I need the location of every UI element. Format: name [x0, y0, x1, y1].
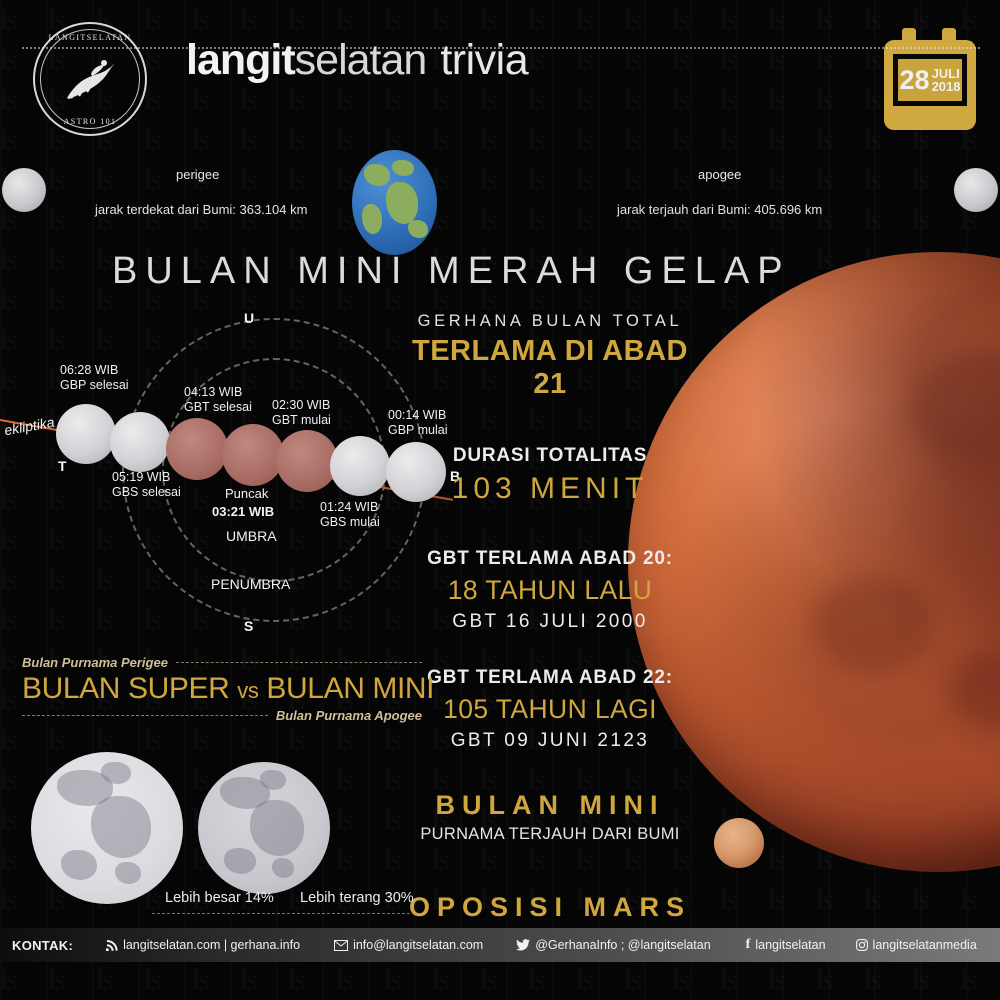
century20-date: GBT 16 JULI 2000 — [400, 611, 700, 633]
footer-item-email[interactable]: info@langitselatan.com — [334, 938, 483, 952]
phase-label-gbs-selesai: 05:19 WIB GBS selesai — [112, 470, 181, 500]
penumbra-label: PENUMBRA — [211, 576, 290, 592]
duration-block: DURASI TOTALITAS 103 MENIT — [400, 445, 700, 506]
minimoon-subtitle: PURNAMA TERJAUH DARI BUMI — [400, 825, 700, 844]
footer-email-text: info@langitselatan.com — [353, 938, 483, 952]
mars-title: OPOSISI MARS — [400, 892, 700, 923]
phase-moon-5 — [276, 430, 338, 492]
minimoon-block: BULAN MINI PURNAMA TERJAUH DARI BUMI — [400, 790, 700, 844]
direction-mark-south: S — [244, 618, 253, 634]
earth-icon — [352, 150, 437, 255]
supermoon-vs-minimoon-header: Bulan Purnama Perigee BULAN SUPER vs BUL… — [22, 655, 422, 723]
brand-bold: langit — [186, 36, 295, 84]
orbit-axis-line — [22, 47, 980, 49]
phase-time-gbp-selesai: 06:28 WIB — [60, 363, 129, 378]
century22-label: GBT TERLAMA ABAD 22: — [400, 667, 700, 689]
century22-block: GBT TERLAMA ABAD 22: 105 TAHUN LAGI GBT … — [400, 667, 700, 752]
apogee-fullmoon-caption: Bulan Purnama Apogee — [276, 708, 422, 723]
contact-label: KONTAK: — [12, 938, 73, 953]
phase-moon-4 — [222, 424, 284, 486]
apogee-moon-icon — [954, 168, 998, 212]
phase-label-gbp-selesai: 06:28 WIB GBP selesai — [60, 363, 129, 393]
facebook-icon: f — [746, 937, 751, 953]
calendar-month-year: JULI 2018 — [932, 67, 961, 94]
perigee-label: perigee — [176, 167, 219, 182]
brand-light: selatan — [295, 36, 427, 84]
century20-label: GBT TERLAMA ABAD 20: — [400, 548, 700, 570]
peak-time: 03:21 WIB — [212, 504, 274, 519]
phase-time-gbt-mulai: 02:30 WIB — [272, 398, 331, 413]
perigee-moon-icon — [2, 168, 46, 212]
horse-rider-icon — [57, 54, 123, 104]
century20-block: GBT TERLAMA ABAD 20: 18 TAHUN LALU GBT 1… — [400, 548, 700, 633]
instagram-icon — [856, 939, 868, 951]
phase-time-gbs-selesai: 05:19 WIB — [112, 470, 181, 485]
twitter-icon — [516, 939, 530, 951]
calendar-month: JULI — [932, 67, 961, 80]
footer-item-instagram[interactable]: langitselatanmedia — [856, 938, 977, 952]
calendar-window: 28 JULI 2018 — [893, 54, 967, 106]
header: LANGITSELATAN ASTRO 101 langitselatantri… — [0, 0, 1000, 150]
phase-label-gbs-mulai: 01:24 WIB GBS mulai — [320, 500, 380, 530]
footer-item-facebook[interactable]: f langitselatan — [746, 937, 826, 953]
compare-title: BULAN SUPER vs BULAN MINI — [22, 672, 422, 706]
brighter-caption: Lebih terang 30% — [300, 890, 414, 906]
brand-title: langitselatantrivia — [186, 36, 528, 84]
logo-arc-top-label: LANGITSELATAN — [35, 33, 145, 42]
direction-mark-west: T — [58, 458, 67, 474]
phase-event-gbt-mulai: GBT mulai — [272, 413, 331, 428]
envelope-icon — [334, 940, 348, 951]
footer-instagram-text: langitselatanmedia — [873, 938, 977, 952]
phase-event-gbs-selesai: GBS selesai — [112, 485, 181, 500]
ecliptic-label: ekliptika — [3, 414, 56, 439]
phase-moon-2 — [110, 412, 170, 472]
apogee-label: apogee — [698, 167, 741, 182]
comparison-rule — [152, 913, 410, 914]
compare-title-left: BULAN SUPER — [22, 672, 229, 705]
phase-moon-6 — [330, 436, 390, 496]
duration-label: DURASI TOTALITAS — [400, 445, 700, 467]
phase-label-gbt-mulai: 02:30 WIB GBT mulai — [272, 398, 331, 428]
phase-label-gbt-selesai: 04:13 WIB GBT selesai — [184, 385, 252, 415]
contact-footer: KONTAK: langitselatan.com | gerhana.info… — [0, 928, 1000, 962]
century22-date: GBT 09 JUNI 2123 — [400, 730, 700, 752]
duration-value: 103 MENIT — [400, 472, 700, 506]
calendar-day: 28 — [900, 67, 930, 94]
compare-title-right: BULAN MINI — [266, 672, 434, 705]
footer-item-twitter[interactable]: @GerhanaInfo ; @langitselatan — [516, 938, 710, 952]
minimoon-title: BULAN MINI — [400, 790, 700, 821]
eclipse-headline-text: TERLAMA DI ABAD 21 — [400, 335, 700, 401]
eclipse-kicker-text: GERHANA BULAN TOTAL — [400, 312, 700, 331]
bigger-caption: Lebih besar 14% — [165, 890, 274, 906]
century22-value: 105 TAHUN LAGI — [400, 694, 700, 725]
phase-event-gbs-mulai: GBS mulai — [320, 515, 380, 530]
footer-website-text: langitselatan.com | gerhana.info — [123, 938, 300, 952]
direction-mark-north: U — [244, 310, 254, 326]
perigee-fullmoon-caption: Bulan Purnama Perigee — [22, 655, 168, 670]
infographic-canvas: lslslslslslslslslslslslslslslslslslslsls… — [0, 0, 1000, 1000]
langitselatan-logo: LANGITSELATAN ASTRO 101 — [33, 22, 147, 136]
date-badge: 28 JULI 2018 — [884, 28, 976, 130]
perigee-distance: jarak terdekat dari Bumi: 363.104 km — [95, 202, 307, 217]
apogee-distance: jarak terjauh dari Bumi: 405.696 km — [617, 202, 822, 217]
brand-trivia: trivia — [440, 36, 528, 84]
page-title: BULAN MINI MERAH GELAP — [112, 250, 791, 293]
phase-event-gbt-selesai: GBT selesai — [184, 400, 252, 415]
caption-rule-top — [176, 662, 422, 663]
rss-icon — [106, 939, 118, 951]
peak-label: Puncak — [225, 486, 268, 501]
logo-arc-bottom-label: ASTRO 101 — [35, 117, 145, 126]
phase-event-gbp-selesai: GBP selesai — [60, 378, 129, 393]
phase-time-gbt-selesai: 04:13 WIB — [184, 385, 252, 400]
footer-twitter-text: @GerhanaInfo ; @langitselatan — [535, 938, 710, 952]
caption-rule-bottom — [22, 715, 268, 716]
footer-item-website[interactable]: langitselatan.com | gerhana.info — [106, 938, 300, 952]
calendar-year: 2018 — [932, 80, 961, 94]
phase-moon-1 — [56, 404, 116, 464]
supermoon-disc — [31, 752, 183, 904]
footer-facebook-text: langitselatan — [755, 938, 825, 952]
century20-value: 18 TAHUN LALU — [400, 575, 700, 606]
calendar-inner: 28 JULI 2018 — [898, 59, 962, 101]
umbra-label: UMBRA — [226, 528, 277, 544]
facts-column: GERHANA BULAN TOTAL TERLAMA DI ABAD 21 D… — [400, 312, 700, 946]
compare-title-vs: vs — [237, 678, 258, 703]
eclipse-kicker: GERHANA BULAN TOTAL TERLAMA DI ABAD 21 — [400, 312, 700, 401]
mars-illustration — [714, 818, 764, 868]
minimoon-disc — [198, 762, 330, 894]
phase-time-gbs-mulai: 01:24 WIB — [320, 500, 380, 515]
